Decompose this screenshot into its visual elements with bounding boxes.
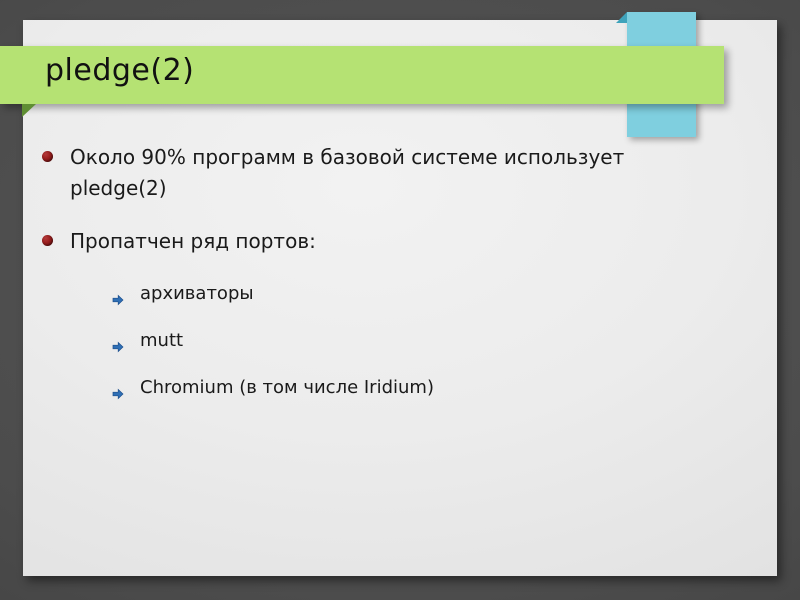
slide-body: Около 90% программ в базовой системе исп… — [40, 142, 740, 423]
blue-arrow-bullet-icon — [112, 288, 124, 300]
list-item: Около 90% программ в базовой системе исп… — [40, 142, 720, 204]
presentation-slide: pledge(2) Около 90% программ в базовой с… — [0, 0, 800, 600]
list-item-label: Около 90% программ в базовой системе исп… — [70, 145, 624, 200]
slide-title: pledge(2) — [45, 53, 194, 88]
decorative-blue-bar-fold-icon — [616, 12, 627, 23]
sub-list: архиваторы mutt — [112, 281, 720, 401]
list-item-label: архиваторы — [140, 283, 254, 304]
blue-arrow-bullet-icon — [112, 382, 124, 394]
list-item: Chromium (в том числе Iridium) — [112, 375, 720, 401]
blue-arrow-bullet-icon — [112, 335, 124, 347]
list-item: mutt — [112, 328, 720, 354]
list-item: Пропатчен ряд портов: архиваторы — [40, 226, 720, 401]
red-sphere-bullet-icon — [42, 151, 53, 162]
title-banner-fold-icon — [22, 104, 36, 117]
list-item-label: Chromium (в том числе Iridium) — [140, 377, 434, 398]
list-item: архиваторы — [112, 281, 720, 307]
list-item-label: Пропатчен ряд портов: — [70, 229, 316, 253]
red-sphere-bullet-icon — [42, 235, 53, 246]
list-item-label: mutt — [140, 330, 183, 351]
